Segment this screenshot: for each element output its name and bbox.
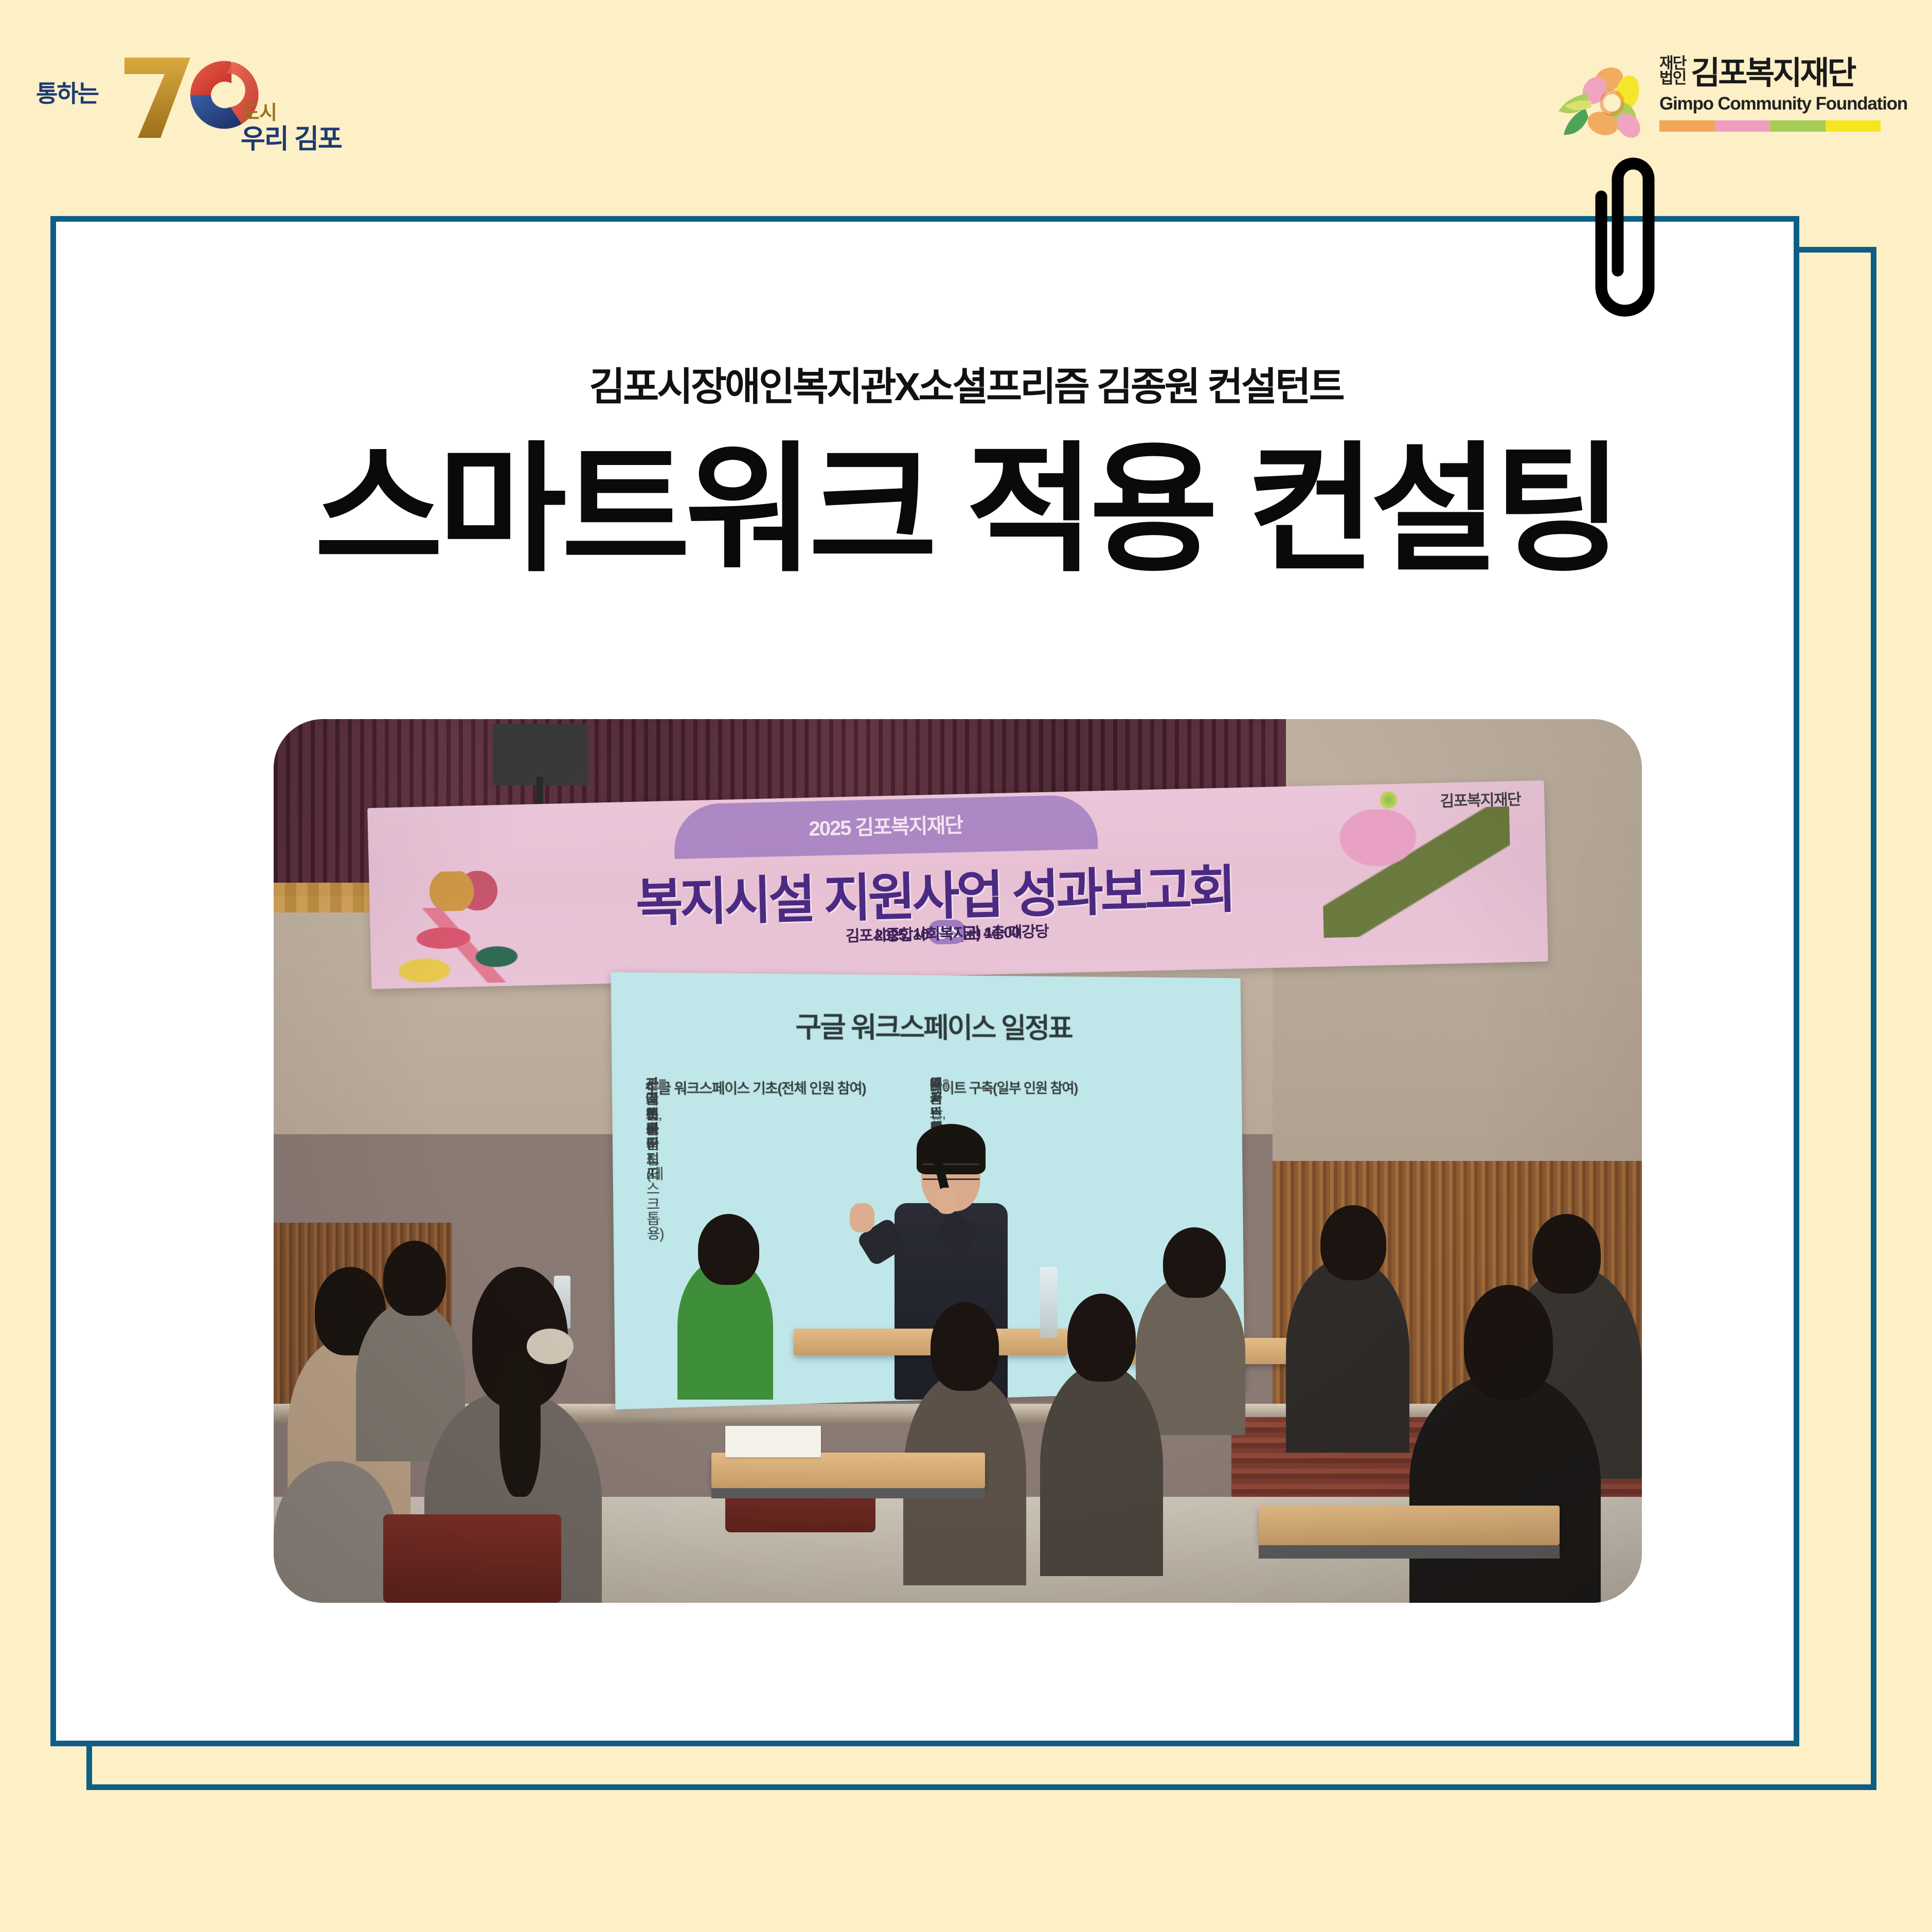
desk-rail	[1259, 1545, 1560, 1559]
foundation-korean-name: 김포복지재단	[1691, 58, 1854, 90]
audience-head	[931, 1302, 999, 1391]
water-bottle	[1040, 1267, 1058, 1337]
desk	[711, 1453, 985, 1488]
foundation-prefix: 재단 법인	[1659, 57, 1686, 90]
foundation-prefix-line2: 법인	[1659, 70, 1686, 87]
audience-person	[1040, 1364, 1163, 1576]
city-logo-city-label: 우리 김포	[241, 117, 342, 156]
audience-head	[1067, 1294, 1136, 1382]
audience-head	[1532, 1214, 1601, 1294]
slide-list-item-text: 구글 챗	[646, 1077, 659, 1122]
event-banner: 2025 김포복지재단 김포복지재단 복지시설 지원사업 성과보고회 일시 20…	[367, 780, 1548, 989]
gimpo-city-logo: 통하는 도시 우리 김포	[36, 45, 365, 148]
gimpo-community-foundation-logo: 재단 법인 김포복지재단 Gimpo Community Foundation	[1551, 57, 1901, 154]
slide-title: 구글 워크스페이스 일정표	[651, 1003, 1205, 1046]
audience-head	[1163, 1227, 1226, 1298]
audience-head	[1320, 1205, 1386, 1280]
banner-foundation-name: 김포복지재단	[1440, 786, 1521, 811]
banner-foundation-mark-icon	[1380, 791, 1398, 809]
chair	[383, 1514, 561, 1603]
city-logo-tagline: 통하는	[36, 75, 98, 109]
desk	[1259, 1506, 1560, 1545]
speaker-right-hand	[936, 1188, 957, 1214]
page-title: 스마트워크 적용 컨설팅	[0, 435, 1932, 586]
speaker-glasses-icon	[923, 1164, 979, 1180]
audience-head	[698, 1214, 760, 1284]
ponytail	[499, 1355, 541, 1497]
subtitle: 김포시장애인복지관X소셜프리즘 김종원 컨설턴트	[0, 355, 1932, 412]
banner-place-value: 김포시종합사회복지관 4층 대강당	[846, 919, 1049, 946]
consulting-lecture-photo: 2025 김포복지재단 김포복지재단 복지시설 지원사업 성과보고회 일시 20…	[274, 719, 1642, 1603]
audience-head	[383, 1241, 446, 1316]
audience-head	[1464, 1285, 1553, 1400]
slide-left-heading: 구글 워크스페이스 기초(전체 인원 참여)	[646, 1077, 866, 1098]
hair-scrunchie-icon	[527, 1329, 573, 1364]
audience-person	[274, 1461, 397, 1603]
audience-person	[1409, 1373, 1601, 1603]
foundation-color-bar	[1659, 120, 1881, 132]
notebook	[725, 1426, 821, 1457]
audience-person	[1286, 1258, 1409, 1453]
paperclip-icon	[1571, 149, 1705, 319]
foundation-english-name: Gimpo Community Foundation	[1659, 94, 1901, 114]
speaker-left-hand	[850, 1203, 874, 1232]
foundation-flower-icon	[1551, 61, 1654, 146]
desk-rail	[711, 1488, 985, 1499]
